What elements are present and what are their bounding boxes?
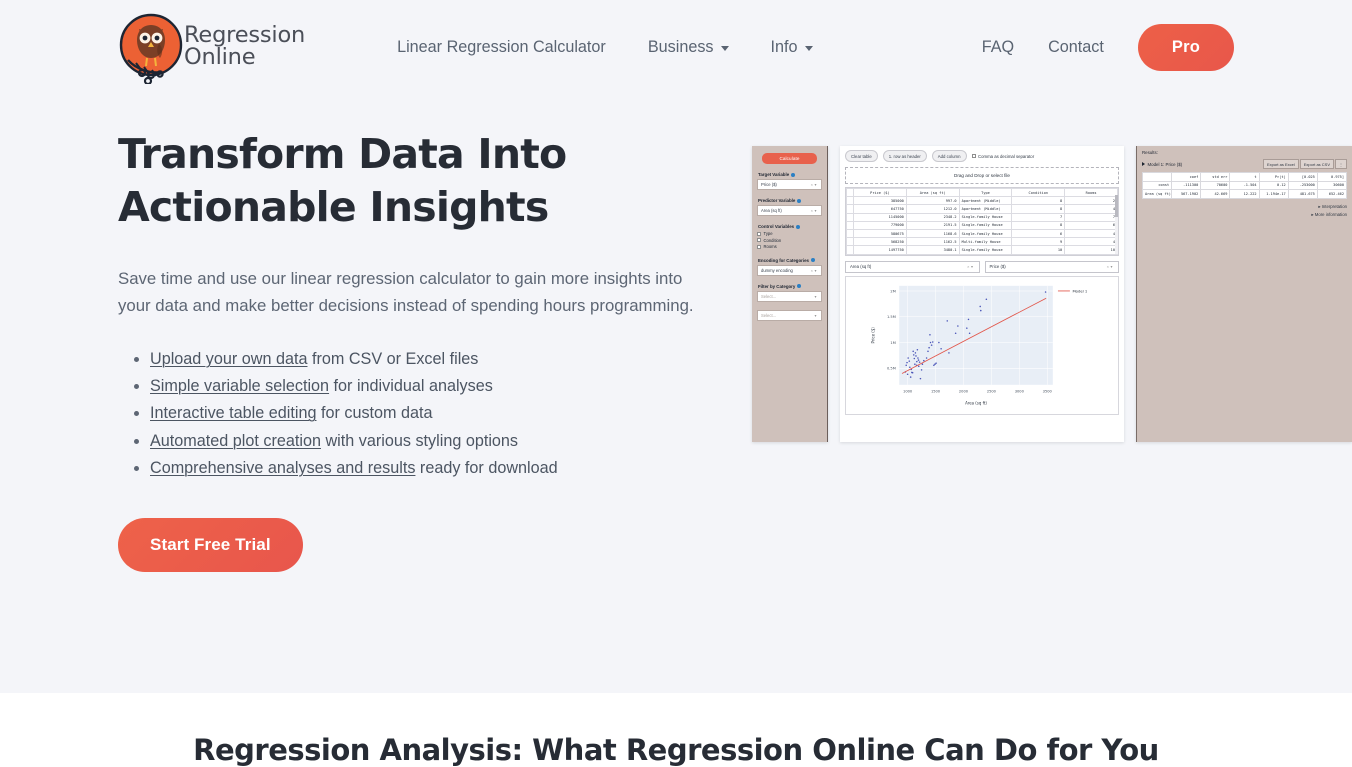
table-cell[interactable]: 6 <box>1065 221 1118 229</box>
row-handle[interactable] <box>847 205 854 213</box>
hero-subtitle: Save time and use our linear regression … <box>118 265 698 320</box>
results-model-row: Model 1: Price ($) Export as Excel Expor… <box>1142 159 1347 169</box>
table-cell[interactable]: 7 <box>1065 213 1118 221</box>
svg-text:0.5M: 0.5M <box>887 366 896 370</box>
table-row: 779000 2191.5 Single-family House 8 6 <box>847 221 1118 229</box>
mockup-sidebar-panel: Calculate Target Variable Price ($)×▾ Pr… <box>752 146 828 442</box>
mock-control-checkbox-condition[interactable]: Condition <box>757 238 822 243</box>
column-header[interactable]: Condition <box>1012 189 1065 197</box>
row-handle[interactable] <box>847 213 854 221</box>
nav-item-business[interactable]: Business <box>648 30 729 65</box>
clear-and-chevron-icon: ×▾ <box>967 264 974 269</box>
table-cell: 12.222 <box>1230 190 1259 199</box>
table-cell[interactable]: Multi-family House <box>959 238 1012 246</box>
mock-plot-x-select[interactable]: Area (sq ft)×▾ <box>845 261 980 273</box>
table-row: 1497750 3480.1 Single-family House 10 10 <box>847 246 1118 254</box>
table-row: 385000 997.0 Apartment (Middle) 8 2 <box>847 197 1118 205</box>
column-header[interactable]: Type <box>959 189 1012 197</box>
spacer <box>757 251 822 258</box>
svg-text:3000: 3000 <box>1015 389 1025 393</box>
table-row: 580675 1168.6 Single-family House 6 4 <box>847 229 1118 237</box>
table-cell[interactable]: 7 <box>1012 213 1065 221</box>
table-cell: 42.669 <box>1201 190 1230 199</box>
table-vertical-scrollbar[interactable] <box>1115 195 1118 255</box>
info-icon <box>797 199 801 203</box>
column-header: [0.025 <box>1288 173 1317 182</box>
mock-encoding-select[interactable]: dummy encoding×▾ <box>757 265 822 276</box>
results-extra-links: ▸ Interpretation ▸ More information <box>1142 204 1347 219</box>
interpretation-toggle[interactable]: ▸ Interpretation <box>1142 204 1347 210</box>
table-cell[interactable]: 3480.1 <box>906 246 959 254</box>
table-cell[interactable]: 4 <box>1065 205 1118 213</box>
svg-text:2500: 2500 <box>987 389 997 393</box>
nav-item-label: Info <box>771 38 798 57</box>
column-header: P>|t| <box>1259 173 1288 182</box>
table-cell: -111300 <box>1172 181 1201 190</box>
table-cell[interactable]: 580675 <box>854 229 907 237</box>
clear-and-chevron-icon: ×▾ <box>1107 264 1114 269</box>
row-handle[interactable] <box>847 221 854 229</box>
table-cell[interactable]: 568250 <box>854 238 907 246</box>
column-header: t <box>1230 173 1259 182</box>
feature-text: from CSV or Excel files <box>307 350 478 368</box>
feature-text: for custom data <box>316 404 432 422</box>
column-header[interactable]: Rooms <box>1065 189 1118 197</box>
start-free-trial-button[interactable]: Start Free Trial <box>118 518 303 572</box>
svg-text:2M: 2M <box>890 289 895 293</box>
table-cell[interactable]: 10 <box>1012 246 1065 254</box>
table-cell: Area (sq ft) <box>1143 190 1172 199</box>
mockup-results-panel: Results: Model 1: Price ($) Export as Ex… <box>1136 146 1352 442</box>
mock-table-toolbar: Clear table 1. row as header Add column … <box>845 150 1119 162</box>
more-information-toggle[interactable]: ▸ More information <box>1142 212 1347 218</box>
mock-plot-y-select[interactable]: Price ($)×▾ <box>985 261 1120 273</box>
results-export-buttons: Export as Excel Export as CSV ⋮ <box>1263 159 1347 169</box>
checkbox-icon <box>757 238 761 242</box>
feature-link-comprehensive-analyses-and-results[interactable]: Comprehensive analyses and results <box>150 459 415 477</box>
table-cell: 652.462 <box>1317 190 1346 199</box>
results-coefficient-table: coef std err t P>|t| [0.025 0.975] const… <box>1142 172 1347 199</box>
info-icon <box>797 284 801 288</box>
row-handle[interactable] <box>847 229 854 237</box>
table-row: 568250 1162.5 Multi-family House 9 4 <box>847 238 1118 246</box>
nav-item-label: Contact <box>1048 38 1104 57</box>
clear-and-chevron-icon: ×▾ <box>811 208 818 213</box>
feature-link-simple-variable-selection[interactable]: Simple variable selection <box>150 377 329 395</box>
info-icon <box>796 225 800 229</box>
svg-text:1000: 1000 <box>903 389 913 393</box>
svg-text:2000: 2000 <box>959 389 969 393</box>
svg-text:Model 1: Model 1 <box>1072 289 1087 293</box>
table-cell[interactable]: 9 <box>1012 238 1065 246</box>
nav-item-label: Business <box>648 38 714 57</box>
svg-text:1500: 1500 <box>931 389 941 393</box>
nav-item-contact[interactable]: Contact <box>1048 30 1104 65</box>
table-cell[interactable]: 2348.2 <box>906 213 959 221</box>
feature-text: for individual analyses <box>329 377 493 395</box>
list-item: Interactive table editing for custom dat… <box>150 400 718 427</box>
list-item: Automated plot creation with various sty… <box>150 428 718 455</box>
mock-control-checkbox-type[interactable]: Type <box>757 231 822 236</box>
clear-and-chevron-icon: ×▾ <box>811 268 818 273</box>
table-cell[interactable]: 997.0 <box>906 197 959 205</box>
nav-item-linear-regression-calculator[interactable]: Linear Regression Calculator <box>397 30 606 65</box>
next-section: Regression Analysis: What Regression Onl… <box>0 693 1352 760</box>
table-cell[interactable]: 1162.5 <box>906 238 959 246</box>
table-cell[interactable]: 1497750 <box>854 246 907 254</box>
list-item: Comprehensive analyses and results ready… <box>150 455 718 482</box>
column-header: coef <box>1172 173 1201 182</box>
table-cell[interactable]: 1168.6 <box>906 229 959 237</box>
nav-links: Linear Regression Calculator Business In… <box>397 30 854 65</box>
table-cell[interactable]: 385000 <box>854 197 907 205</box>
section-title: Regression Analysis: What Regression Onl… <box>0 733 1352 767</box>
table-row: 647750 1212.0 Apartment (Middle) 8 4 <box>847 205 1118 213</box>
mock-target-variable-select[interactable]: Price ($)×▾ <box>757 179 822 190</box>
column-header[interactable]: Price ($) <box>854 189 907 197</box>
table-cell[interactable]: 779000 <box>854 221 907 229</box>
row-handle[interactable] <box>847 197 854 205</box>
table-row: Area (sq ft) 567.1902 42.669 12.222 1.19… <box>1143 190 1347 199</box>
table-cell: 70600 <box>1201 181 1230 190</box>
table-cell: -1.504 <box>1230 181 1259 190</box>
table-cell[interactable]: Single-family House <box>959 221 1012 229</box>
list-item: Simple variable selection for individual… <box>150 373 718 400</box>
table-cell[interactable]: 6 <box>1012 229 1065 237</box>
feature-text: with various styling options <box>321 432 518 450</box>
export-csv-button[interactable]: Export as CSV <box>1300 159 1334 169</box>
nav-item-faq[interactable]: FAQ <box>982 30 1014 65</box>
chevron-right-icon <box>1142 162 1145 166</box>
nav-item-info[interactable]: Info <box>771 30 813 65</box>
feature-list: Upload your own data from CSV or Excel f… <box>118 346 718 482</box>
table-cell: -253000 <box>1288 181 1317 190</box>
brand-line-2: Online <box>184 47 305 68</box>
mock-target-variable-label: Target Variable <box>758 172 822 177</box>
mock-filter-select-2[interactable]: Select...▾ <box>757 310 822 321</box>
feature-link-upload-your-own-data[interactable]: Upload your own data <box>150 350 307 368</box>
mock-data-table-wrapper: Price ($) Area (sq ft) Type Condition Ro… <box>845 187 1119 256</box>
mock-plot-axis-selectors: Area (sq ft)×▾ Price ($)×▾ <box>845 261 1119 273</box>
mock-encoding-label: Encoding for Categories <box>758 258 822 263</box>
table-cell[interactable]: 4 <box>1065 229 1118 237</box>
checkbox-icon <box>757 232 761 236</box>
mock-file-dropzone[interactable]: Drag and Drop or select file <box>845 167 1119 184</box>
feature-text: ready for download <box>415 459 557 477</box>
svg-text:1M: 1M <box>890 340 895 344</box>
list-item: Upload your own data from CSV or Excel f… <box>150 346 718 373</box>
regression-scatter-chart: 1000150020002500300035000.5M1M1.5M2MArea… <box>848 279 1116 407</box>
chevron-down-icon <box>721 46 729 51</box>
mock-row-as-header-button[interactable]: 1. row as header <box>883 150 927 162</box>
export-more-button[interactable]: ⋮ <box>1335 159 1347 169</box>
table-cell[interactable]: 647750 <box>854 205 907 213</box>
svg-text:Price ($): Price ($) <box>870 326 875 343</box>
table-cell: 30600 <box>1317 181 1346 190</box>
mock-add-column-button[interactable]: Add column <box>932 150 967 162</box>
nav-item-label: Linear Regression Calculator <box>397 38 606 57</box>
table-cell[interactable]: Single-family House <box>959 246 1012 254</box>
info-icon <box>791 173 795 177</box>
chevron-down-icon: ▾ <box>814 313 818 318</box>
mock-scatter-plot: 1000150020002500300035000.5M1M1.5M2MArea… <box>845 276 1119 415</box>
mock-clear-table-button[interactable]: Clear table <box>845 150 878 162</box>
table-header-row: Price ($) Area (sq ft) Type Condition Ro… <box>847 189 1118 197</box>
table-cell[interactable]: 1145000 <box>854 213 907 221</box>
table-cell[interactable]: 2 <box>1065 197 1118 205</box>
page-title: Transform Data Into Actionable Insights <box>118 128 588 235</box>
brand-wordmark: Regression Online <box>184 25 305 68</box>
table-cell[interactable]: Apartment (Middle) <box>959 197 1012 205</box>
results-model-label[interactable]: Model 1: Price ($) <box>1142 162 1182 167</box>
mock-control-checkbox-rooms[interactable]: Rooms <box>757 244 822 249</box>
column-header: std err <box>1201 173 1230 182</box>
table-cell[interactable]: Single-family House <box>959 229 1012 237</box>
table-cell[interactable]: 8 <box>1012 221 1065 229</box>
app-screenshot-mockup: Calculate Target Variable Price ($)×▾ Pr… <box>752 146 1352 442</box>
mock-calculate-button[interactable]: Calculate <box>762 153 817 164</box>
brand-logo-link[interactable]: Regression Online <box>118 12 305 84</box>
table-row: 1145000 2348.2 Single-family House 7 7 <box>847 213 1118 221</box>
table-cell[interactable]: 1212.0 <box>906 205 959 213</box>
feature-link-interactive-table-editing[interactable]: Interactive table editing <box>150 404 316 422</box>
nav-item-label: FAQ <box>982 38 1014 57</box>
info-icon <box>811 258 815 262</box>
checkbox-icon <box>972 154 976 158</box>
results-heading: Results: <box>1142 150 1347 155</box>
table-cell[interactable]: Apartment (Middle) <box>959 205 1012 213</box>
table-cell[interactable]: 10 <box>1065 246 1118 254</box>
checkbox-icon <box>757 245 761 249</box>
table-cell: 0.12 <box>1259 181 1288 190</box>
table-header-row: coef std err t P>|t| [0.025 0.975] <box>1143 173 1347 182</box>
table-cell: 1.194e-17 <box>1259 190 1288 199</box>
svg-text:Area (sq ft): Area (sq ft) <box>965 400 987 405</box>
mock-predictor-variable-select[interactable]: Area (sq ft)×▾ <box>757 205 822 216</box>
column-header[interactable]: Area (sq ft) <box>906 189 959 197</box>
column-header <box>1143 173 1172 182</box>
clear-and-chevron-icon: ×▾ <box>811 182 818 187</box>
mock-filter-label: Filter by Category <box>758 284 822 289</box>
mock-predictor-variable-label: Predictor Variable <box>758 198 822 203</box>
export-excel-button[interactable]: Export as Excel <box>1263 159 1299 169</box>
feature-link-automated-plot-creation[interactable]: Automated plot creation <box>150 432 321 450</box>
mock-control-variables-label: Control Variables <box>758 224 822 229</box>
table-cell[interactable]: 8 <box>1012 197 1065 205</box>
table-cell[interactable]: 8 <box>1012 205 1065 213</box>
mock-comma-separator-checkbox[interactable]: Comma as decimal separator <box>972 154 1035 159</box>
svg-text:3500: 3500 <box>1043 389 1053 393</box>
table-row: const -111300 70600 -1.504 0.12 -253000 … <box>1143 181 1347 190</box>
mock-data-table: Price ($) Area (sq ft) Type Condition Ro… <box>846 188 1118 255</box>
pro-button[interactable]: Pro <box>1138 24 1234 71</box>
svg-text:1.5M: 1.5M <box>887 315 896 319</box>
table-cell[interactable]: 4 <box>1065 238 1118 246</box>
nav-right-group: FAQ Contact Pro <box>982 24 1234 71</box>
row-handle[interactable] <box>847 238 854 246</box>
main-navbar: Regression Online Linear Regression Calc… <box>0 0 1352 95</box>
table-cell: const <box>1143 181 1172 190</box>
chevron-down-icon: ▾ <box>814 294 818 299</box>
chevron-down-icon <box>805 46 813 51</box>
table-cell: 481.675 <box>1288 190 1317 199</box>
table-cell[interactable]: Single-family House <box>959 213 1012 221</box>
row-handle-header <box>847 189 854 197</box>
hero-copy-column: Transform Data Into Actionable Insights … <box>118 95 718 572</box>
hero-section: Regression Online Linear Regression Calc… <box>0 0 1352 693</box>
table-cell: 567.1902 <box>1172 190 1201 199</box>
mock-filter-select-1[interactable]: Select...▾ <box>757 291 822 302</box>
table-cell[interactable]: 2191.5 <box>906 221 959 229</box>
row-handle[interactable] <box>847 246 854 254</box>
column-header: 0.975] <box>1317 173 1346 182</box>
owl-logo-icon <box>118 12 186 84</box>
mockup-data-panel: Clear table 1. row as header Add column … <box>840 146 1124 442</box>
